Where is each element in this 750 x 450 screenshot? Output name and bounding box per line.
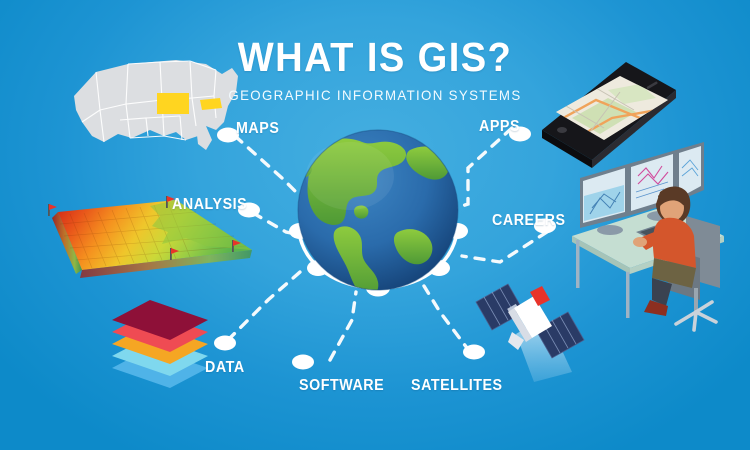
node-label-careers[interactable]: CAREERS [492, 212, 566, 229]
node-dot-satellites [463, 345, 485, 360]
node-label-maps[interactable]: MAPS [236, 120, 279, 137]
node-label-analysis[interactable]: ANALYSIS [172, 196, 247, 213]
node-dot-software [292, 355, 314, 370]
node-label-software[interactable]: SOFTWARE [299, 377, 384, 394]
connector-satellites [424, 286, 470, 352]
infographic-canvas: WHAT IS GIS? GEOGRAPHIC INFORMATION SYST… [0, 0, 750, 450]
workstation-illustration [534, 142, 724, 330]
connector-software [330, 292, 356, 360]
node-dot-data [214, 336, 236, 351]
connector-maps [235, 136, 300, 196]
node-label-apps[interactable]: APPS [479, 118, 520, 135]
satellite-illustration [463, 284, 584, 382]
node-label-data[interactable]: DATA [205, 359, 245, 376]
connector-data [228, 272, 300, 340]
page-title: WHAT IS GIS? [26, 34, 724, 80]
connector-careers [462, 232, 547, 262]
page-subtitle: GEOGRAPHIC INFORMATION SYSTEMS [19, 86, 732, 104]
node-label-satellites[interactable]: SATELLITES [411, 377, 503, 394]
